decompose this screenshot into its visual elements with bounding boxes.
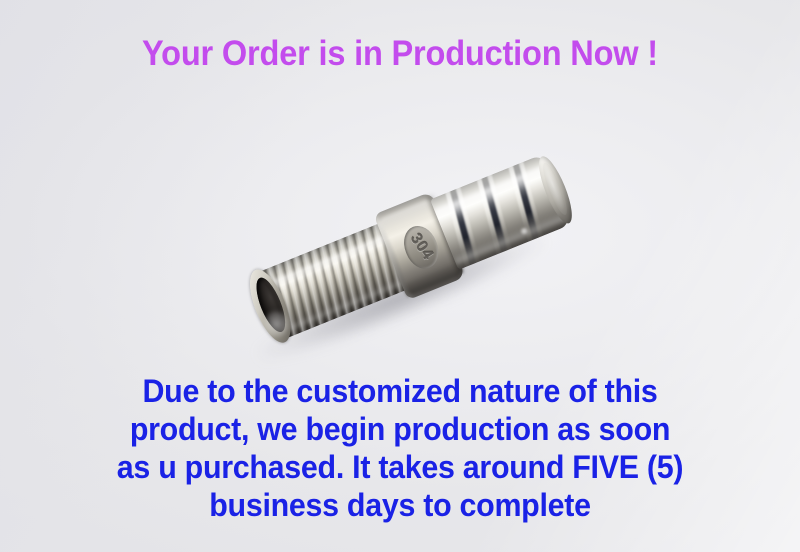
hose-barb-fitting-illustration: 304 (243, 160, 573, 360)
material-grade-text: 304 (406, 231, 437, 264)
notice-line-1: Due to the customized nature of this (20, 372, 780, 410)
production-notice: Due to the customized nature of this pro… (0, 372, 800, 524)
notice-line-3: as u purchased. It takes around FIVE (5) (20, 448, 780, 486)
notice-line-4: business days to complete (20, 486, 780, 524)
promo-image-canvas: Your Order is in Production Now ! (0, 0, 800, 552)
notice-line-2: product, we begin production as soon (20, 410, 780, 448)
page-title: Your Order is in Production Now ! (28, 34, 772, 74)
